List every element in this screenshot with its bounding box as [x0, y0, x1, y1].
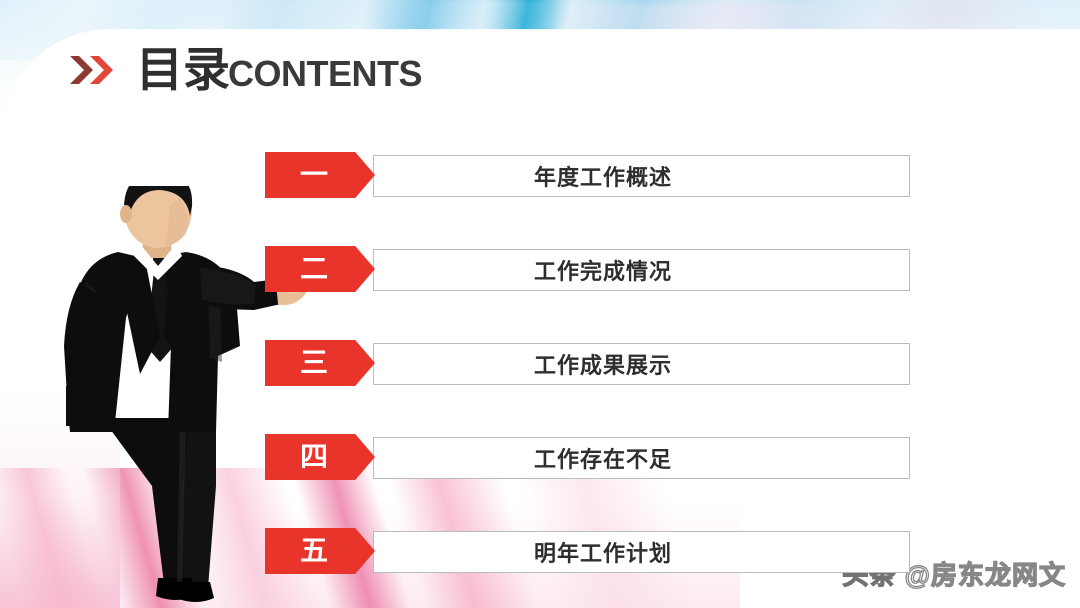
contents-item-box[interactable]: 工作成果展示	[373, 343, 910, 385]
contents-item-number-badge[interactable]: 五	[265, 528, 375, 574]
contents-item-label: 工作完成情况	[374, 250, 909, 290]
contents-item-number-badge[interactable]: 一	[265, 152, 375, 198]
contents-item-box[interactable]: 年度工作概述	[373, 155, 910, 197]
contents-item-number-badge[interactable]: 二	[265, 246, 375, 292]
contents-item[interactable]: 工作完成情况 二	[265, 246, 910, 292]
contents-item-label: 年度工作概述	[374, 156, 909, 196]
contents-item-label: 工作成果展示	[374, 344, 909, 384]
page-title-en: CONTENTS	[228, 56, 422, 92]
contents-item-number: 四	[300, 443, 328, 471]
contents-list: 年度工作概述 一 工作完成情况 二 工作成果展示 三 工作存在不足	[265, 152, 910, 574]
contents-item-box[interactable]: 明年工作计划	[373, 531, 910, 573]
contents-item-box[interactable]: 工作完成情况	[373, 249, 910, 291]
double-chevron-right-icon	[68, 48, 120, 92]
contents-item-number-badge[interactable]: 四	[265, 434, 375, 480]
contents-item[interactable]: 工作成果展示 三	[265, 340, 910, 386]
contents-item-number: 二	[300, 255, 328, 283]
contents-item-box[interactable]: 工作存在不足	[373, 437, 910, 479]
contents-item-number: 一	[300, 161, 328, 189]
page-title-cn: 目录	[136, 46, 230, 93]
contents-item-number: 五	[300, 537, 328, 565]
contents-item-number-badge[interactable]: 三	[265, 340, 375, 386]
contents-item-number: 三	[300, 349, 328, 377]
contents-item[interactable]: 工作存在不足 四	[265, 434, 910, 480]
contents-item[interactable]: 年度工作概述 一	[265, 152, 910, 198]
presentation-slide: 目录 CONTENTS	[0, 0, 1080, 608]
contents-item-label: 工作存在不足	[374, 438, 909, 478]
contents-item-label: 明年工作计划	[374, 532, 909, 572]
contents-item[interactable]: 明年工作计划 五	[265, 528, 910, 574]
page-title: 目录 CONTENTS	[136, 46, 422, 93]
slide-header: 目录 CONTENTS	[68, 46, 422, 93]
